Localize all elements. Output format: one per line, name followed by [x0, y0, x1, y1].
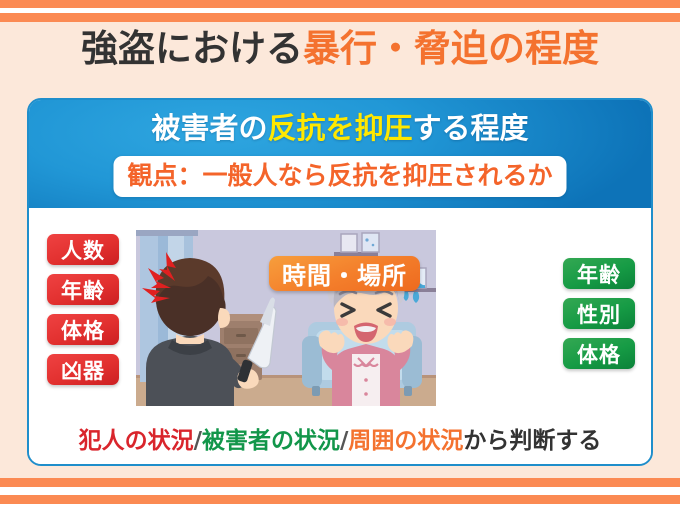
victim-factor-build: 体格	[563, 338, 635, 369]
headline-post: する程度	[413, 111, 529, 145]
page-title-plain: 強盗における	[81, 27, 303, 70]
headline-pre: 被害者の	[151, 111, 267, 145]
victim-factor-gender: 性別	[563, 298, 635, 329]
main-card: 被害者の反抗を抑圧する程度 観点：一般人なら反抗を抑圧されるか 人数 年齢 体格…	[27, 98, 653, 466]
victim-factor-age: 年齢	[563, 258, 635, 289]
card-body: 人数 年齢 体格 凶器	[29, 208, 651, 464]
conclusion-victim: 被害者の状況	[202, 428, 340, 454]
viewpoint-pill: 観点：一般人なら反抗を抑圧されるか	[113, 156, 566, 197]
header-band: 被害者の反抗を抑圧する程度 観点：一般人なら反抗を抑圧されるか	[29, 100, 651, 208]
offender-factors-column: 人数 年齢 体格 凶器	[47, 234, 119, 385]
conclusion-surroundings: 周囲の状況	[348, 428, 463, 454]
offender-factor-weapon: 凶器	[47, 354, 119, 385]
bottom-rule-inner	[0, 478, 680, 487]
conclusion-line: 犯人の状況/被害者の状況/周囲の状況から判断する	[29, 426, 651, 456]
bottom-rule-outer	[0, 495, 680, 504]
conclusion-tail: から判断する	[463, 428, 601, 454]
bottom-edge-gap	[0, 504, 680, 510]
top-rule-outer	[0, 0, 680, 8]
header-headline: 被害者の反抗を抑圧する程度	[29, 109, 651, 147]
viewpoint-pill-label: 観点：一般人なら反抗を抑圧されるか	[127, 160, 552, 191]
page-title: 強盗における暴行・脅迫の程度	[0, 26, 680, 72]
offender-factor-build: 体格	[47, 314, 119, 345]
conclusion-separator-1: /	[194, 428, 202, 454]
scene-illustration: 時間・場所	[136, 230, 436, 406]
conclusion-offender: 犯人の状況	[79, 428, 194, 454]
headline-highlight: 反抗を抑圧	[267, 111, 412, 145]
time-place-tag: 時間・場所	[269, 256, 420, 291]
infographic-root: 強盗における暴行・脅迫の程度 被害者の反抗を抑圧する程度 観点：一般人なら反抗を…	[0, 0, 680, 510]
offender-factor-people: 人数	[47, 234, 119, 265]
offender-factor-age: 年齢	[47, 274, 119, 305]
top-rule-inner	[0, 13, 680, 22]
bottom-rule-gap	[0, 487, 680, 495]
page-title-accent: 暴行・脅迫の程度	[303, 27, 599, 70]
victim-factors-column: 年齢 性別 体格	[563, 258, 635, 369]
